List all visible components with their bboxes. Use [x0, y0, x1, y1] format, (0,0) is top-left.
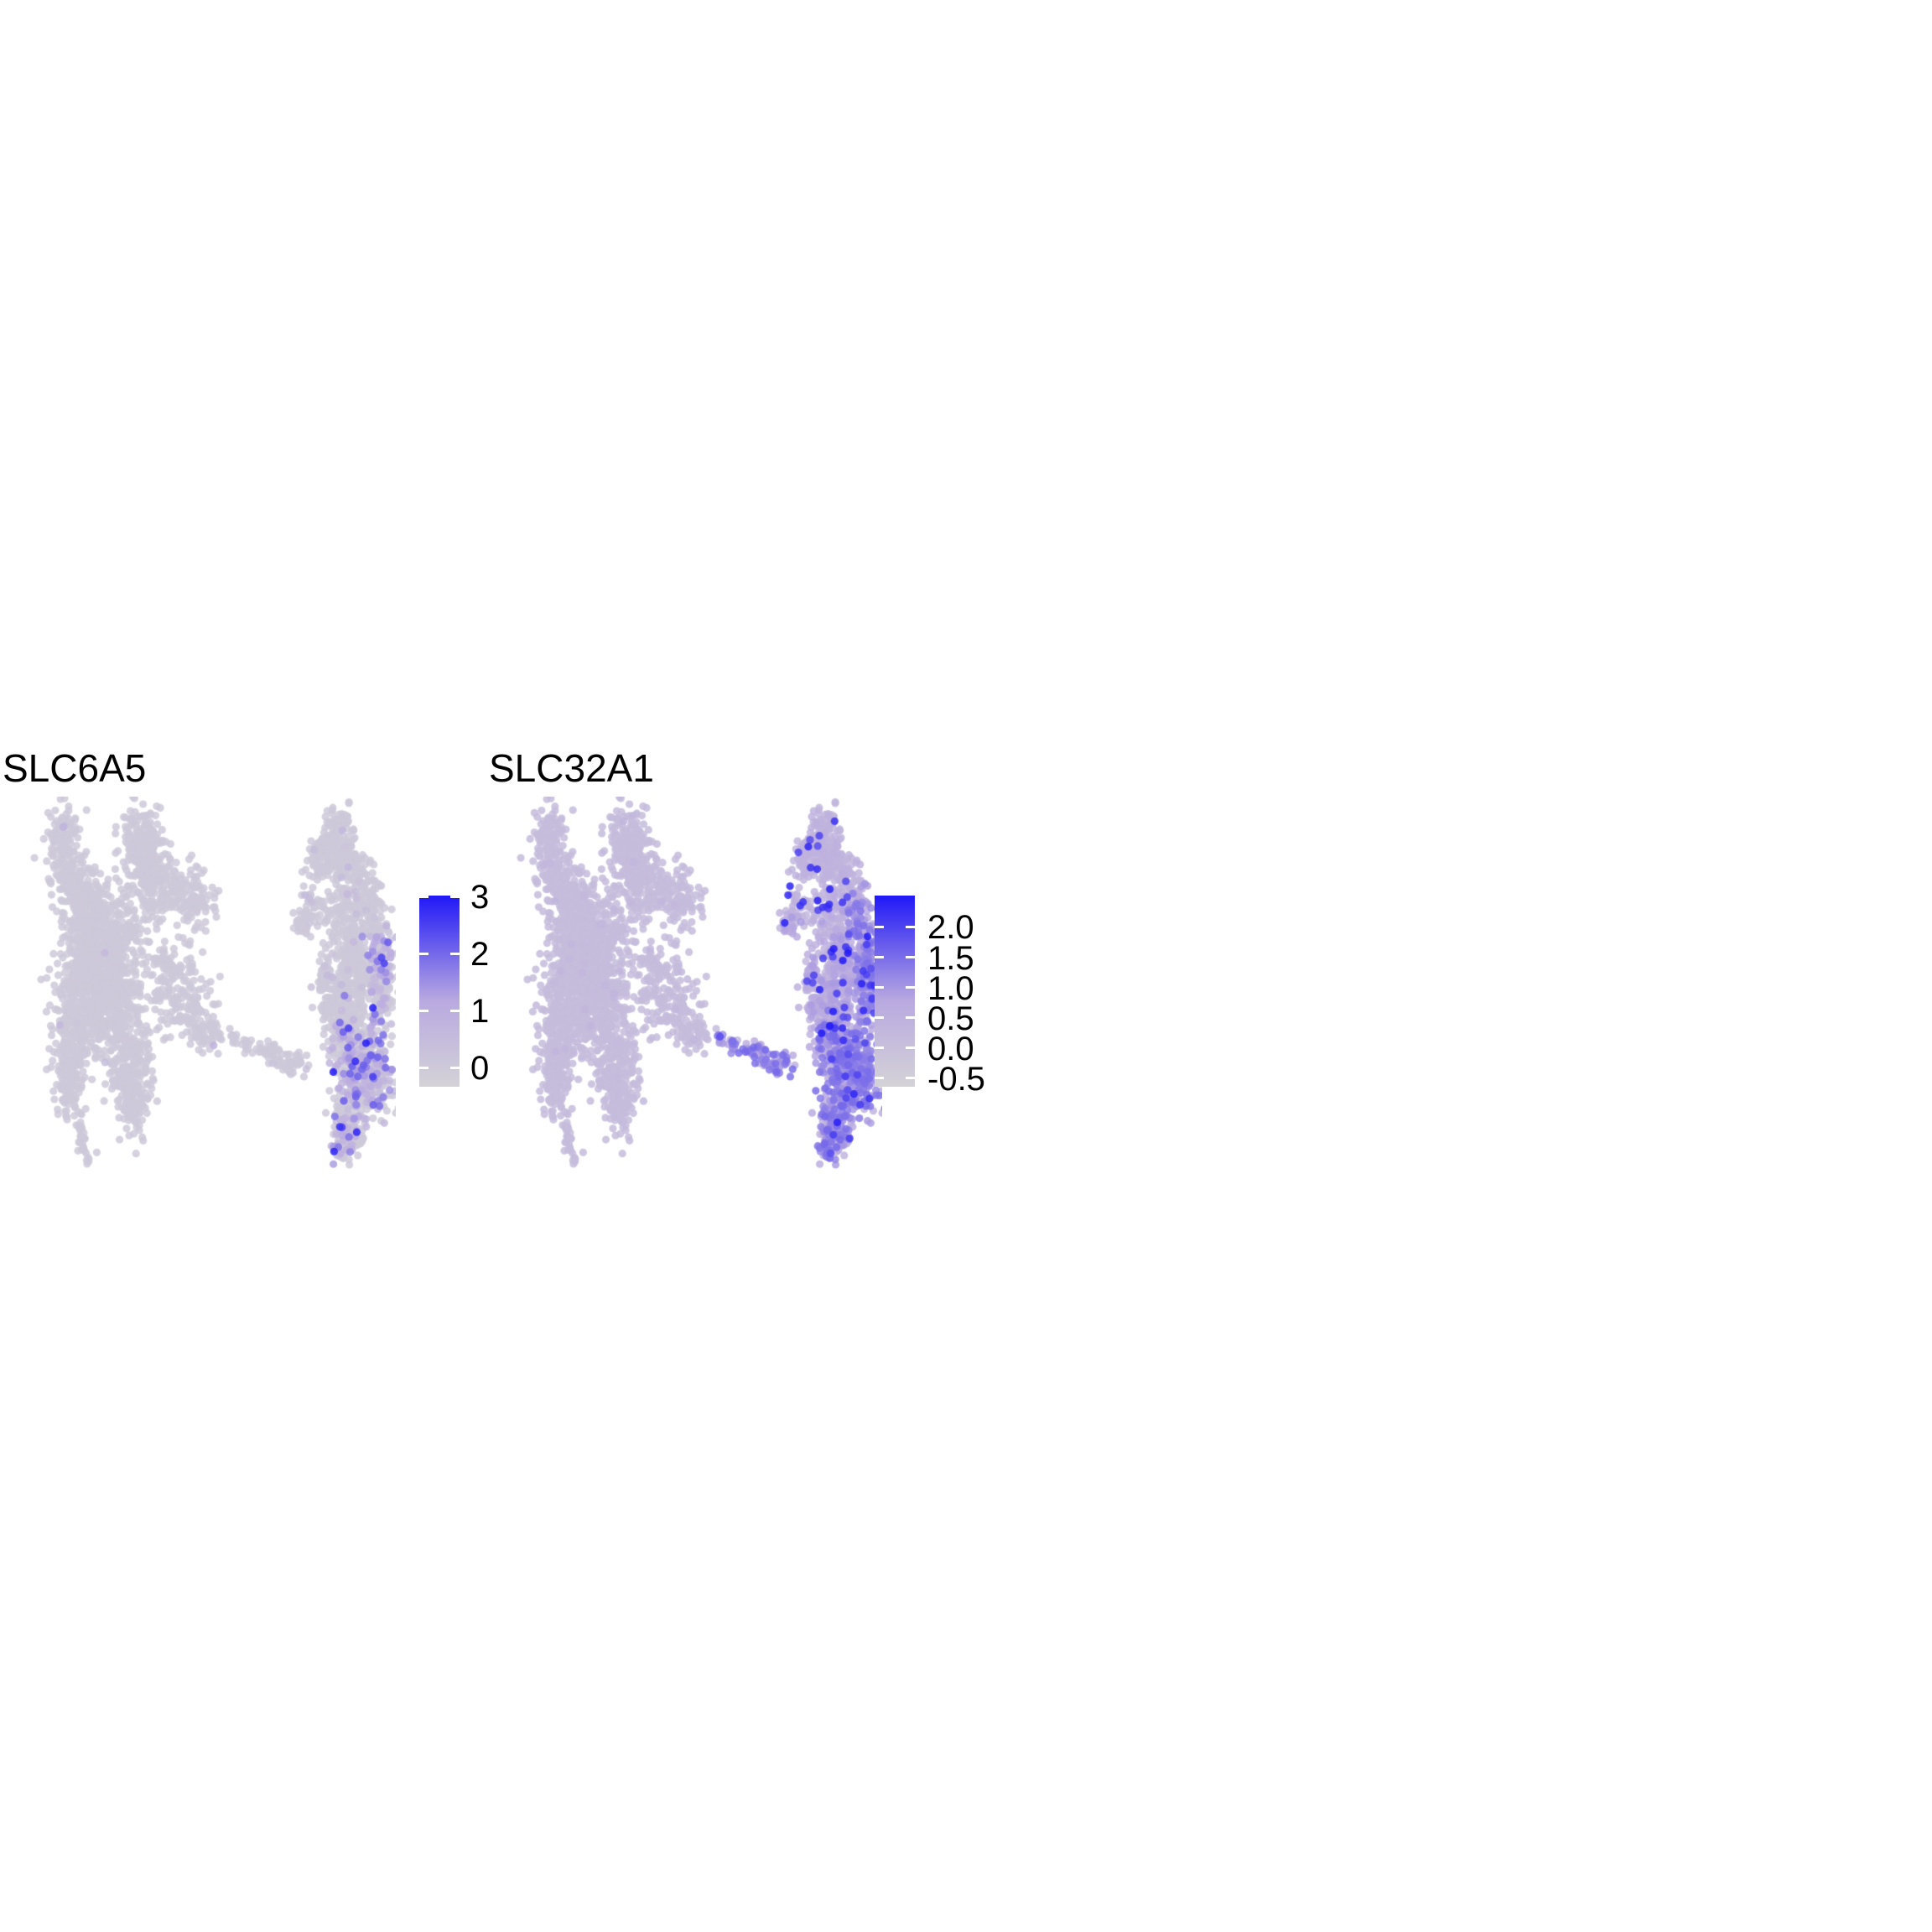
colorbar-tick-mark — [419, 1067, 428, 1069]
colorbar-tick-mark — [875, 956, 884, 958]
colorbar-tick-mark — [419, 1010, 428, 1012]
colorbar-tick-mark — [450, 1010, 460, 1012]
colorbar-tick-mark — [875, 926, 884, 928]
umap-scatter-slc6a5 — [10, 797, 396, 1174]
colorbar-tick-mark — [419, 896, 428, 898]
colorbar-tick-mark — [450, 953, 460, 955]
figure-root: SLC6A5 3210 SLC32A1 2.01.51.00.50.0-0.5 — [0, 0, 1932, 1932]
colorbar-tick-label: 2.0 — [927, 911, 974, 944]
colorbar-gradient-slc32a1 — [875, 896, 915, 1087]
colorbar-tick-mark — [875, 1016, 884, 1019]
colorbar-tick-label: 2 — [470, 937, 489, 971]
colorbar-slc32a1 — [875, 896, 915, 1087]
colorbar-tick-mark — [906, 986, 915, 989]
colorbar-tick-mark — [906, 956, 915, 958]
colorbar-tick-label: 3 — [470, 880, 489, 914]
panel-title-slc6a5: SLC6A5 — [3, 749, 146, 787]
umap-scatter-slc32a1 — [496, 797, 882, 1174]
panel-title-slc32a1: SLC32A1 — [489, 749, 654, 787]
colorbar-tick-mark — [419, 953, 428, 955]
colorbar-tick-mark — [906, 1077, 915, 1079]
colorbar-tick-mark — [875, 986, 884, 989]
colorbar-tick-label: 1 — [470, 995, 489, 1028]
colorbar-tick-mark — [906, 1046, 915, 1049]
colorbar-tick-label: -0.5 — [927, 1062, 985, 1096]
colorbar-tick-mark — [875, 1077, 884, 1079]
colorbar-gradient-slc6a5 — [419, 896, 460, 1087]
colorbar-tick-label: 0 — [470, 1052, 489, 1085]
colorbar-tick-mark — [875, 1046, 884, 1049]
colorbar-slc6a5 — [419, 896, 460, 1087]
colorbar-tick-mark — [906, 1016, 915, 1019]
colorbar-tick-mark — [450, 896, 460, 898]
colorbar-tick-mark — [450, 1067, 460, 1069]
colorbar-tick-mark — [906, 926, 915, 928]
